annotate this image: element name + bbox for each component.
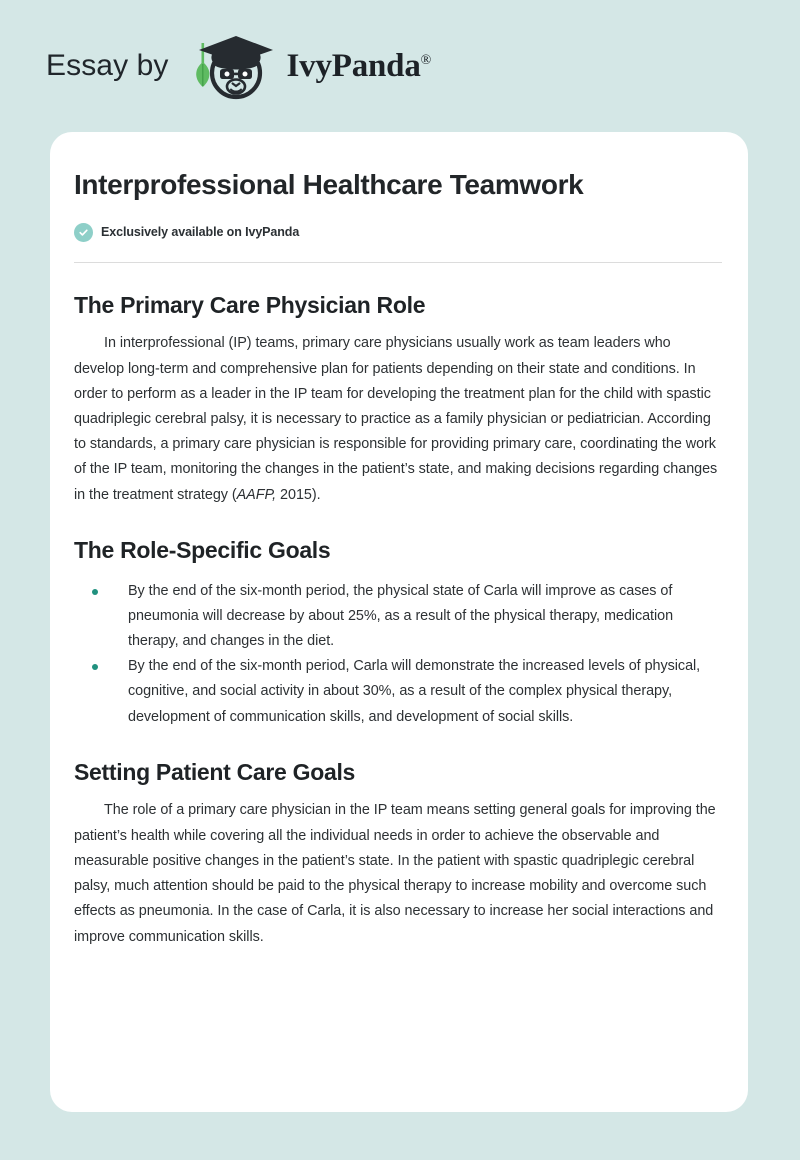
bullet-dot-icon: [92, 664, 98, 670]
document-card: Interprofessional Healthcare Teamwork Ex…: [50, 132, 748, 1112]
section-heading-setting-patient-care-goals: Setting Patient Care Goals: [74, 758, 722, 787]
badge-label: Exclusively available on IvyPanda: [101, 225, 299, 239]
list-item-text: By the end of the six-month period, the …: [128, 583, 673, 649]
title-divider: [74, 262, 722, 263]
essay-by-label: Essay by: [46, 49, 169, 83]
list-item: By the end of the six-month period, the …: [74, 579, 722, 655]
section-heading-primary-care-physician-role: The Primary Care Physician Role: [74, 291, 722, 320]
ivypanda-logo[interactable]: IvyPanda®: [181, 31, 432, 101]
section-paragraph-primary-care-physician-role: In interprofessional (IP) teams, primary…: [74, 331, 722, 507]
bullet-dot-icon: [92, 589, 98, 595]
list-item-text: By the end of the six-month period, Carl…: [128, 658, 700, 724]
section-paragraph-setting-patient-care-goals: The role of a primary care physician in …: [74, 798, 722, 949]
exclusivity-badge: Exclusively available on IvyPanda: [74, 223, 722, 242]
registered-mark: ®: [421, 53, 431, 68]
panda-graduation-cap-icon: [181, 31, 285, 101]
paragraph-text-part-1: In interprofessional (IP) teams, primary…: [74, 335, 717, 502]
brand-name-text: IvyPanda: [287, 48, 421, 84]
page-title: Interprofessional Healthcare Teamwork: [74, 168, 722, 202]
section-heading-role-specific-goals: The Role-Specific Goals: [74, 536, 722, 565]
citation-source: AAFP,: [237, 487, 276, 503]
role-specific-goals-list: By the end of the six-month period, the …: [74, 579, 722, 730]
paragraph-text-part-2: 2015).: [276, 487, 320, 503]
ivypanda-wordmark: IvyPanda®: [287, 48, 432, 85]
brand-header: Essay by: [0, 0, 800, 132]
list-item: By the end of the six-month period, Carl…: [74, 654, 722, 730]
check-circle-icon: [74, 223, 93, 242]
